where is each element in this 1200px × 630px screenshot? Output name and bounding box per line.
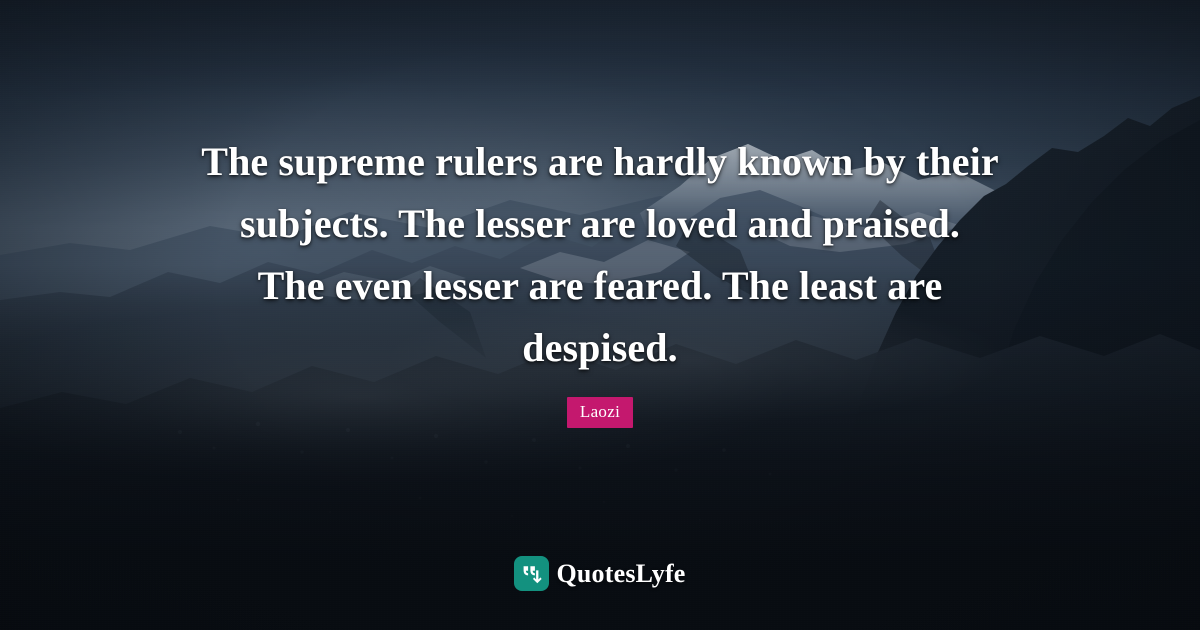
author-badge[interactable]: Laozi (567, 397, 633, 428)
quote-line: The even lesser are feared. The least ar… (100, 255, 1100, 317)
quote-line: subjects. The lesser are loved and prais… (100, 193, 1100, 255)
brand-name: QuotesLyfe (556, 561, 685, 587)
brand-logo[interactable]: QuotesLyfe (0, 556, 1200, 591)
quote-line: The supreme rulers are hardly known by t… (100, 131, 1100, 193)
quote-text: The supreme rulers are hardly known by t… (100, 131, 1100, 379)
quote-line: despised. (100, 317, 1100, 379)
quote-mark-icon (514, 556, 549, 591)
card-content: The supreme rulers are hardly known by t… (0, 0, 1200, 630)
quote-card: The supreme rulers are hardly known by t… (0, 0, 1200, 630)
